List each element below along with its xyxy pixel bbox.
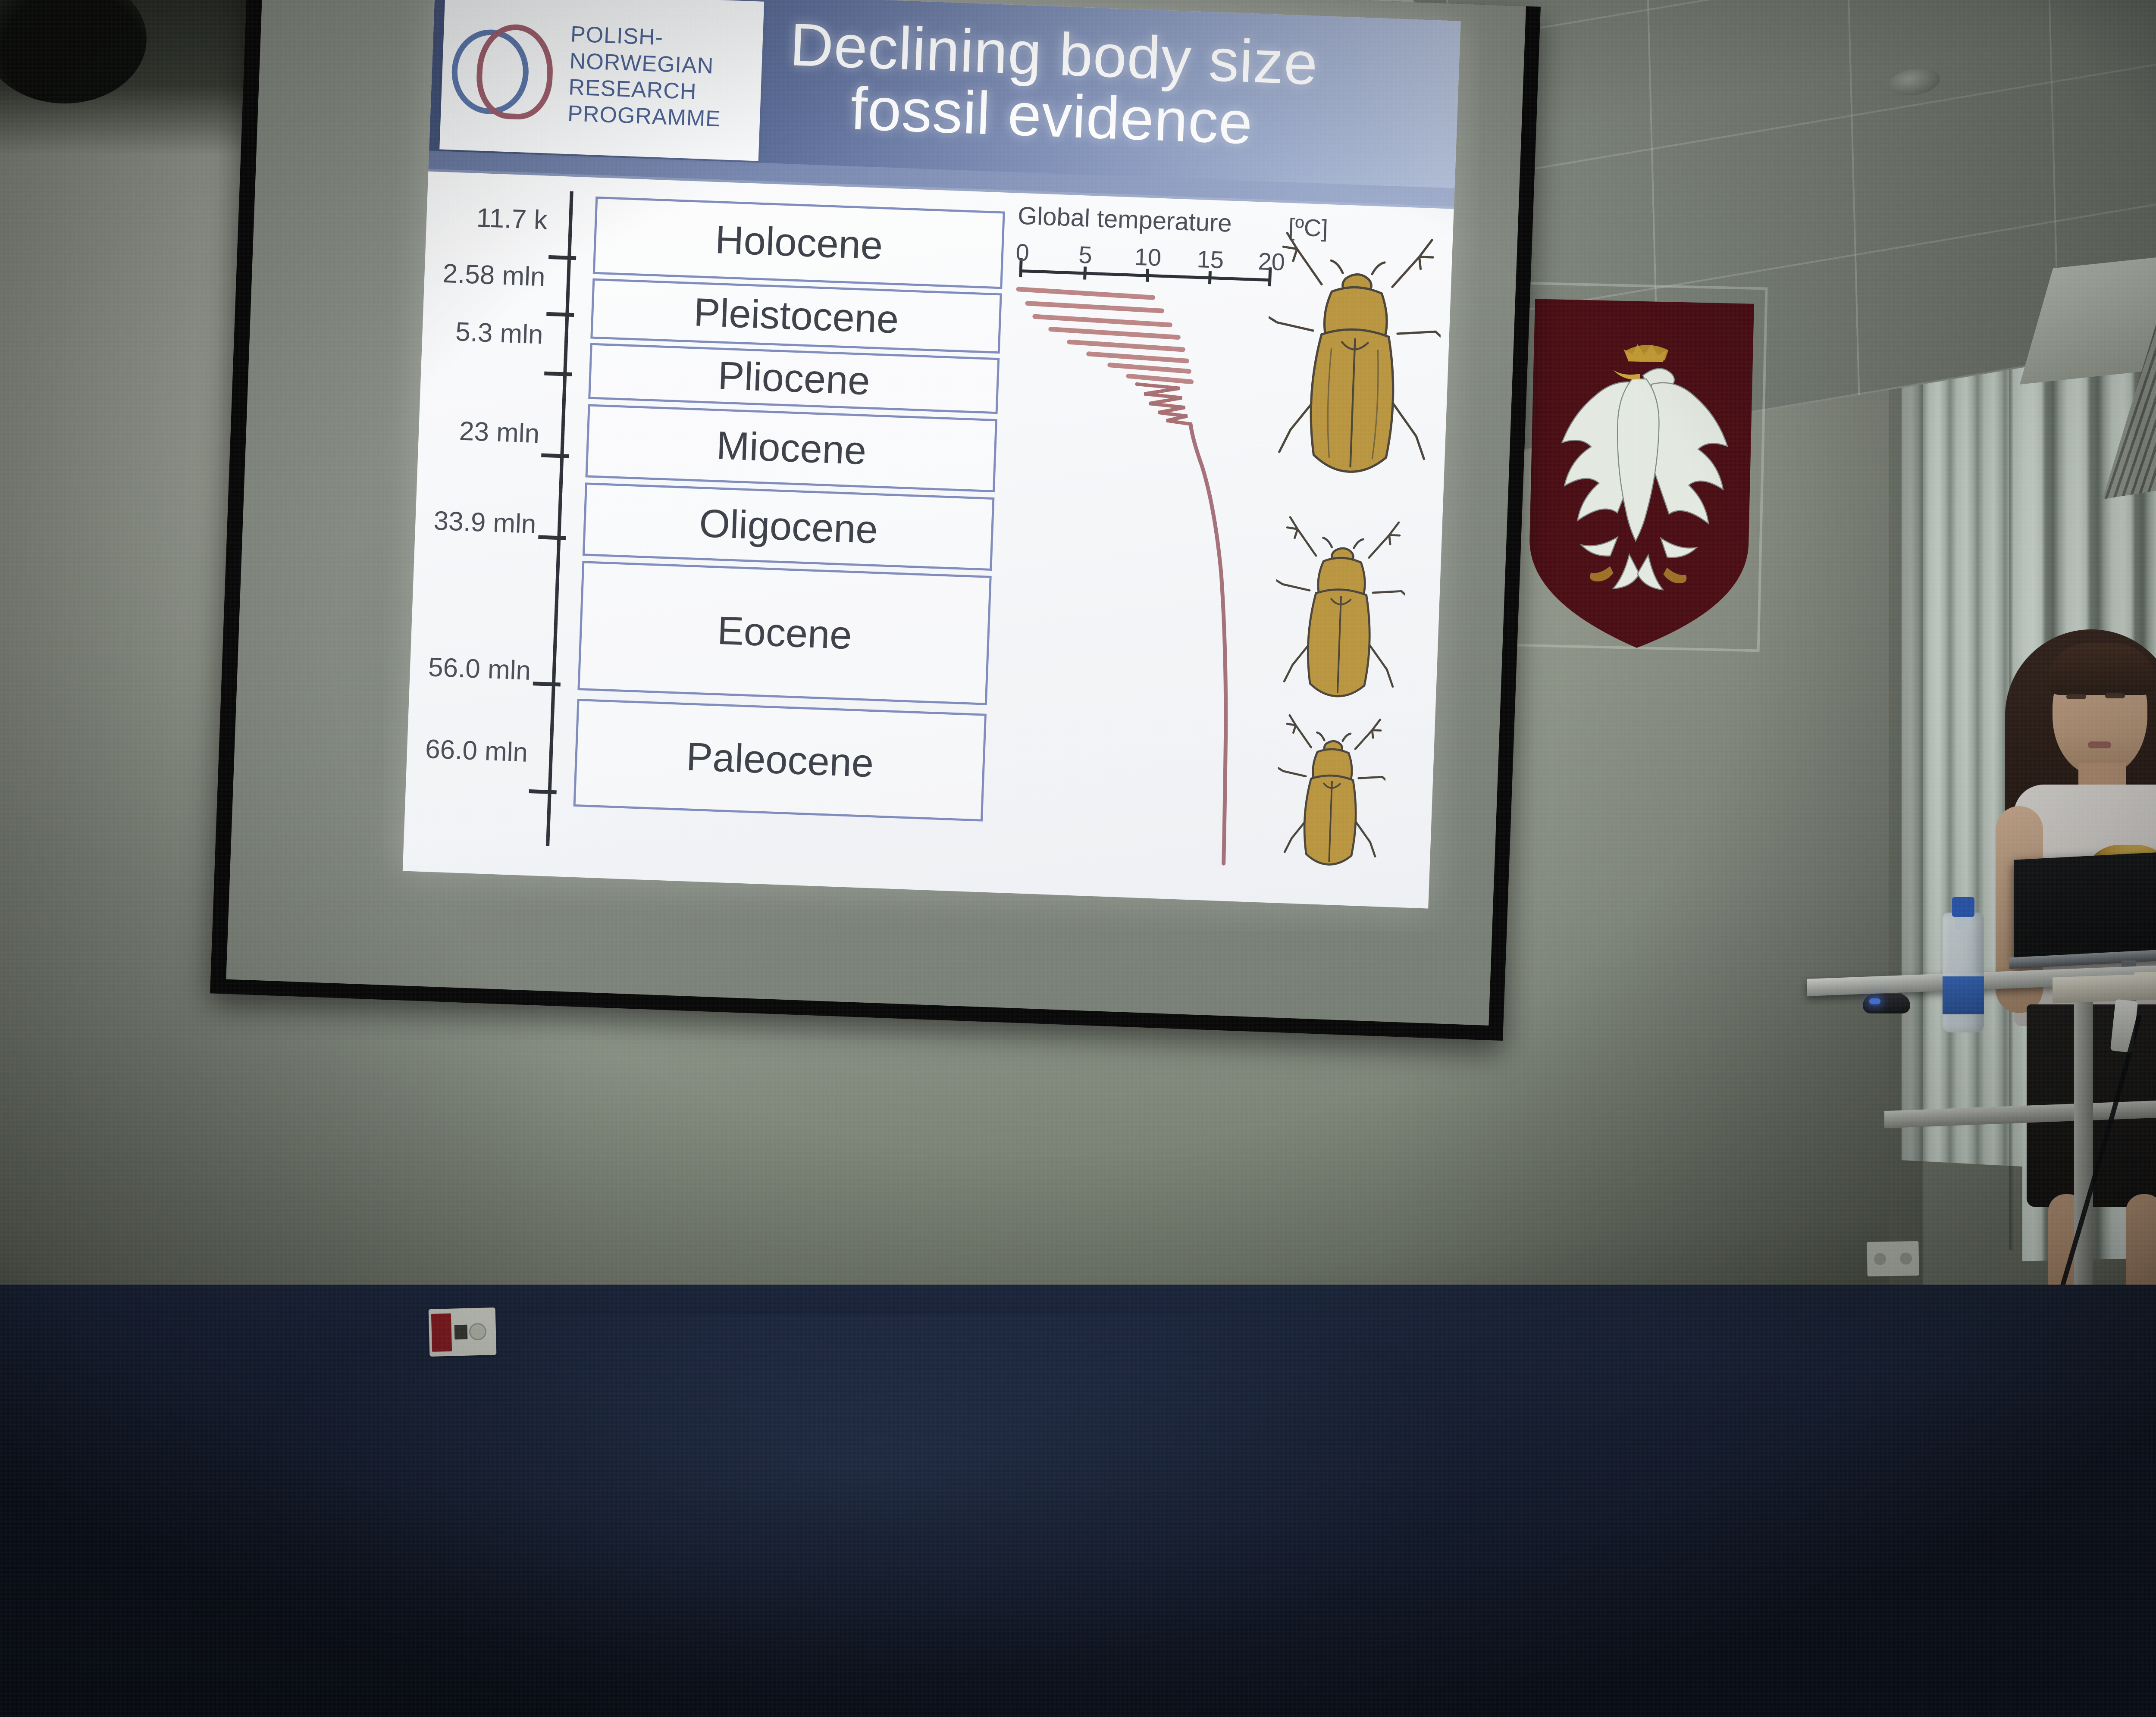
wall-socket-data-port [454, 1325, 468, 1340]
temperature-tick-label-0: 0 [1015, 238, 1030, 267]
epoch-box-miocene: Miocene [585, 404, 997, 492]
temperature-chart-title: Global temperature [1017, 201, 1232, 238]
epoch-box-eocene: Eocene [577, 561, 991, 705]
age-tick-3 [541, 453, 569, 458]
age-tick-5 [533, 682, 561, 686]
beetle-icon-medium [1271, 510, 1408, 731]
polish-coat-of-arms [1511, 280, 1770, 660]
screen-surface: Polish-Norwegian Research Programme Decl… [226, 0, 1526, 1026]
epoch-box-oligocene: Oligocene [583, 482, 995, 571]
wall-socket-panel[interactable] [429, 1307, 497, 1357]
geological-timeline: 11.7 k 2.58 mln 5.3 mln 23 mln 33.9 mln … [417, 187, 1010, 871]
presenter-eye-left [2066, 694, 2086, 699]
age-tick-6 [529, 789, 557, 794]
age-tick-4 [538, 535, 566, 540]
epoch-box-pleistocene: Pleistocene [590, 278, 1002, 354]
epoch-box-holocene: Holocene [593, 197, 1005, 289]
presentation-slide: Polish-Norwegian Research Programme Decl… [403, 0, 1461, 909]
temperature-tick-label-5: 5 [1078, 241, 1093, 269]
lectern-top [2014, 847, 2156, 967]
photograph-scene: Polish-Norwegian Research Programme Decl… [0, 0, 2156, 1717]
age-label-5: 56.0 mln [423, 652, 531, 686]
age-label-1: 2.58 mln [437, 258, 545, 292]
beetle-icon-large [1262, 225, 1445, 516]
age-tick-1 [546, 312, 574, 317]
temperature-curve [990, 283, 1287, 870]
age-label-3: 23 mln [431, 415, 540, 449]
temperature-tick-label-15: 15 [1197, 245, 1225, 274]
timeline-axis [546, 191, 573, 846]
floor-light-pool [259, 1315, 1639, 1717]
age-label-6: 66.0 mln [420, 734, 528, 768]
beetle-size-series [1249, 225, 1445, 869]
presenter-mouth [2088, 741, 2111, 748]
presenter-eye-right [2105, 693, 2125, 698]
age-tick-2 [544, 372, 572, 376]
beetle-icon-small [1273, 709, 1388, 894]
wall-socket-panel-2[interactable] [1867, 1241, 1919, 1276]
age-label-4: 33.9 mln [428, 505, 536, 540]
age-tick-0 [548, 255, 576, 260]
age-label-2: 5.3 mln [435, 316, 543, 350]
epoch-box-paleocene: Paleocene [573, 699, 987, 822]
programme-logo-mark-icon [448, 16, 560, 128]
wall-socket-red-plate [431, 1314, 452, 1352]
projection-screen: Polish-Norwegian Research Programme Decl… [210, 0, 1541, 1041]
wall-socket-outlet [469, 1323, 486, 1341]
temperature-tick-label-10: 10 [1134, 243, 1162, 272]
epoch-box-pliocene: Pliocene [588, 343, 1000, 414]
presenter-fringe [2047, 643, 2155, 695]
age-label-0: 11.7 k [439, 201, 548, 236]
